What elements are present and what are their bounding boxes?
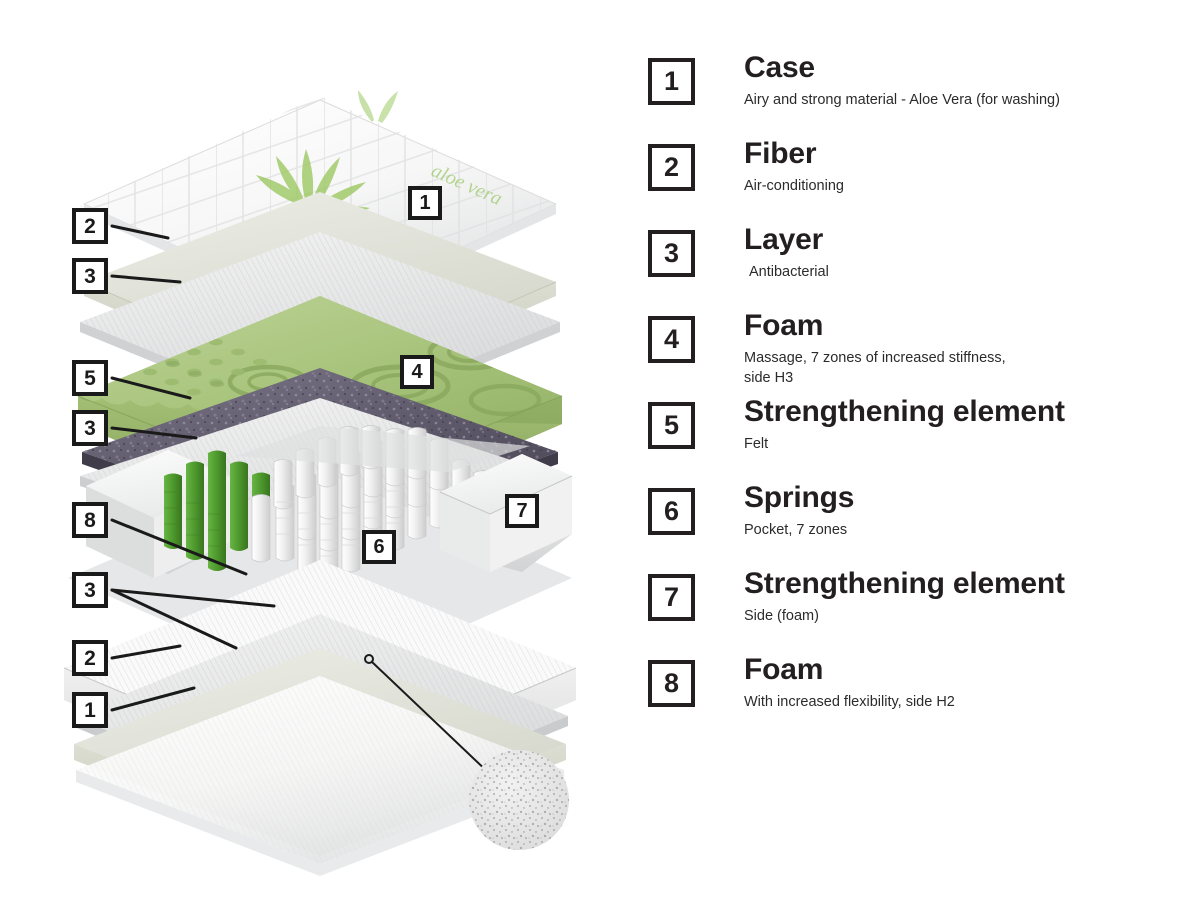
legend-number-badge-8: 8 xyxy=(648,660,695,707)
legend-desc-2-line-1: Air-conditioning xyxy=(744,176,1188,196)
legend-item-2: 2 Fiber Air-conditioning xyxy=(648,138,1188,224)
legend-number-badge-6: 6 xyxy=(648,488,695,535)
legend-desc-3-line-1: Antibacterial xyxy=(744,262,1188,282)
legend-title-5: Strengthening element xyxy=(744,396,1188,428)
diagram-callout-1-case-bottom: 1 xyxy=(72,692,108,728)
legend-desc-3: Antibacterial xyxy=(744,262,1188,282)
mattress-exploded-illustration: aloe vera aloe vera xyxy=(0,0,640,899)
legend-item-4: 4 Foam Massage, 7 zones of increased sti… xyxy=(648,310,1188,396)
diagram-callout-8-foam: 8 xyxy=(72,502,108,538)
diagram-callout-3-layer-mid: 3 xyxy=(72,410,108,446)
legend-title-4: Foam xyxy=(744,310,1188,342)
legend-title-1: Case xyxy=(744,52,1188,84)
mattress-layer-diagram-page: aloe vera aloe vera xyxy=(0,0,1200,899)
legend-title-3: Layer xyxy=(744,224,1188,256)
diagram-callout-2-fiber-top: 2 xyxy=(72,208,108,244)
legend-desc-6-line-1: Pocket, 7 zones xyxy=(744,520,1188,540)
diagram-callout-4-massage-foam: 4 xyxy=(400,355,434,389)
diagram-callout-3-layer-top: 3 xyxy=(72,258,108,294)
legend-desc-4-line-2: side H3 xyxy=(744,368,1188,388)
legend-desc-7: Side (foam) xyxy=(744,606,1188,626)
legend-desc-5: Felt xyxy=(744,434,1188,454)
legend-item-1: 1 Case Airy and strong material - Aloe V… xyxy=(648,52,1188,138)
legend-number-badge-5: 5 xyxy=(648,402,695,449)
legend-desc-4-line-1: Massage, 7 zones of increased stiffness, xyxy=(744,348,1188,368)
diagram-callout-6-springs: 6 xyxy=(362,530,396,564)
layer-legend-list: 1 Case Airy and strong material - Aloe V… xyxy=(648,52,1188,740)
diagram-callout-7-side-foam: 7 xyxy=(505,494,539,528)
legend-item-3: 3 Layer Antibacterial xyxy=(648,224,1188,310)
legend-title-2: Fiber xyxy=(744,138,1188,170)
legend-desc-7-line-1: Side (foam) xyxy=(744,606,1188,626)
legend-desc-2: Air-conditioning xyxy=(744,176,1188,196)
legend-number-badge-7: 7 xyxy=(648,574,695,621)
legend-desc-1-line-1: Airy and strong material - Aloe Vera (fo… xyxy=(744,90,1188,110)
legend-item-7: 7 Strengthening element Side (foam) xyxy=(648,568,1188,654)
legend-desc-1: Airy and strong material - Aloe Vera (fo… xyxy=(744,90,1188,110)
legend-title-8: Foam xyxy=(744,654,1188,686)
legend-desc-6: Pocket, 7 zones xyxy=(744,520,1188,540)
diagram-callout-3-layer-bottom: 3 xyxy=(72,572,108,608)
legend-title-7: Strengthening element xyxy=(744,568,1188,600)
legend-title-6: Springs xyxy=(744,482,1188,514)
legend-desc-8: With increased flexibility, side H2 xyxy=(744,692,1188,712)
legend-number-badge-1: 1 xyxy=(648,58,695,105)
diagram-callout-2-fiber-bottom: 2 xyxy=(72,640,108,676)
legend-desc-4: Massage, 7 zones of increased stiffness,… xyxy=(744,348,1188,388)
legend-number-badge-2: 2 xyxy=(648,144,695,191)
legend-desc-8-line-1: With increased flexibility, side H2 xyxy=(744,692,1188,712)
legend-desc-5-line-1: Felt xyxy=(744,434,1188,454)
diagram-callout-5-felt: 5 xyxy=(72,360,108,396)
legend-item-6: 6 Springs Pocket, 7 zones xyxy=(648,482,1188,568)
legend-number-badge-4: 4 xyxy=(648,316,695,363)
legend-item-8: 8 Foam With increased flexibility, side … xyxy=(648,654,1188,740)
legend-number-badge-3: 3 xyxy=(648,230,695,277)
diagram-callout-1-case-top: 1 xyxy=(408,186,442,220)
legend-item-5: 5 Strengthening element Felt xyxy=(648,396,1188,482)
